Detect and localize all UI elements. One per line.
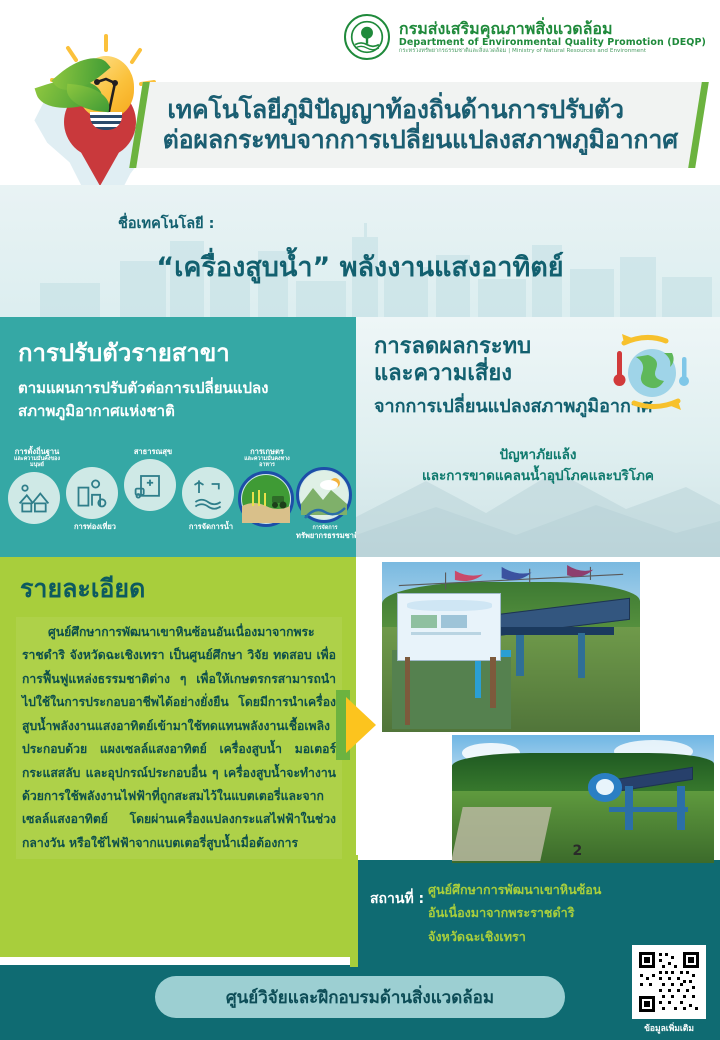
detail-section: รายละเอียด ศูนย์ศึกษาการพัฒนาเขาหินซ้อนอ… xyxy=(0,557,356,957)
mitigation-issue-2: และการขาดแคลนน้ำอุปโภคและบริโภค xyxy=(356,466,720,487)
sector-sublabel-agriculture: และความมั่นคงทางอาหาร xyxy=(238,456,296,469)
poster-footer: ศูนย์วิจัยและฝึกอบรมด้านสิ่งแวดล้อม xyxy=(0,965,720,1040)
sector-label-agriculture: การเกษตร xyxy=(250,447,284,456)
sector-water-management[interactable]: การจัดการน้ำ xyxy=(182,467,240,531)
sector-agriculture[interactable]: การเกษตร และความมั่นคงทางอาหาร xyxy=(238,447,296,527)
footer-text: ศูนย์วิจัยและฝึกอบรมด้านสิ่งแวดล้อม xyxy=(226,984,494,1011)
sector-sublabel-settlement: และความมั่นคงของมนุษย์ xyxy=(8,456,66,469)
adaptation-heading: การปรับตัวรายสาขา xyxy=(18,333,356,372)
deqp-logo-block: กรมส่งเสริมคุณภาพสิ่งแวดล้อม Department … xyxy=(344,14,706,60)
solar-pump-ricefield-photo: 2 xyxy=(452,735,714,863)
sector-icons-row: การตั้งถิ่นฐาน และความมั่นคงของมนุษย์ กา… xyxy=(8,447,356,551)
tourism-icon xyxy=(66,467,118,519)
sector-label-tourism: การท่องเที่ยว xyxy=(74,522,116,531)
water-management-icon xyxy=(182,467,234,519)
qr-code[interactable] xyxy=(632,945,706,1019)
solar-pump-pond-photo xyxy=(382,562,640,732)
sector-label-water-management: การจัดการน้ำ xyxy=(189,522,233,531)
globe-thermometer-icon xyxy=(602,331,698,415)
sector-natural-resources[interactable]: การจัดการ ทรัพยากรธรรมชาติ xyxy=(296,467,354,540)
adaptation-subheading-1: ตามแผนการปรับตัวต่อการเปลี่ยนแปลง xyxy=(18,379,269,397)
sector-settlement[interactable]: การตั้งถิ่นฐาน และความมั่นคงของมนุษย์ xyxy=(8,447,66,524)
footer-pill: ศูนย์วิจัยและฝึกอบรมด้านสิ่งแวดล้อม xyxy=(155,976,565,1018)
tech-name-label: ชื่อเทคโนโลยี : xyxy=(118,212,214,235)
green-edge-strip xyxy=(350,855,358,967)
deqp-seal-icon xyxy=(344,14,390,60)
adaptation-panel: การปรับตัวรายสาขา ตามแผนการปรับตัวต่อการ… xyxy=(0,317,356,557)
org-name-thai: กรมส่งเสริมคุณภาพสิ่งแวดล้อม xyxy=(399,20,706,38)
qr-code-image xyxy=(637,950,701,1014)
sector-label-natural-resources: ทรัพยากรธรรมชาติ xyxy=(296,531,359,540)
location-line-2: อันเนื่องมาจากพระราชดำริ xyxy=(428,901,618,924)
location-label: สถานที่ : xyxy=(370,888,424,910)
ministry-name: กระทรวงทรัพยากรธรรมชาติและสิ่งแวดล้อม | … xyxy=(399,48,706,54)
mitigation-issue-1: ปัญหาภัยแล้ง xyxy=(356,445,720,466)
settlement-icon xyxy=(8,472,60,524)
sector-tourism[interactable]: การท่องเที่ยว xyxy=(66,467,124,531)
org-name-english: Department of Environmental Quality Prom… xyxy=(399,38,706,49)
detail-body-text: ศูนย์ศึกษาการพัฒนาเขาหินซ้อนอันเนื่องมาจ… xyxy=(16,617,342,859)
qr-code-label: ข้อมูลเพิ่มเติม xyxy=(632,1021,706,1035)
sector-label-public-health: สาธารณสุข xyxy=(134,447,172,456)
sector-public-health[interactable]: สาธารณสุข xyxy=(124,447,182,511)
adaptation-subheading-2: สภาพภูมิอากาศแห่งชาติ xyxy=(18,402,175,420)
agriculture-icon xyxy=(238,471,294,527)
title-line-1: เทคโนโลยีภูมิปัญญาท้องถิ่นด้านการปรับตัว xyxy=(167,95,697,126)
tech-name-value: “เครื่องสูบน้ำ” พลังงานแสงอาทิตย์ xyxy=(0,245,720,288)
photo-number-label: 2 xyxy=(573,843,583,859)
sector-label-settlement: การตั้งถิ่นฐาน xyxy=(15,447,59,456)
mitigation-panel: การลดผลกระทบ และความเสี่ยง จากการเปลี่ยน… xyxy=(356,317,720,557)
title-line-2: ต่อผลกระทบจากการเปลี่ยนแปลงสภาพภูมิอากาศ xyxy=(163,125,693,156)
location-line-3: จังหวัดฉะเชิงเทรา xyxy=(428,925,618,948)
poster-title-banner: เทคโนโลยีภูมิปัญญาท้องถิ่นด้านการปรับตัว… xyxy=(129,82,709,168)
location-line-1: ศูนย์ศึกษาการพัฒนาเขาหินซ้อน xyxy=(428,878,618,901)
yellow-arrow-icon xyxy=(346,697,376,753)
public-health-icon xyxy=(124,459,176,511)
natural-resources-icon xyxy=(296,467,352,523)
technology-name-section: ชื่อเทคโนโลยี : “เครื่องสูบน้ำ” พลังงานแ… xyxy=(0,185,720,317)
detail-heading: รายละเอียด xyxy=(20,569,356,609)
poster-header: เทคโนโลยีภูมิปัญญาท้องถิ่นด้านการปรับตัว… xyxy=(0,0,720,200)
